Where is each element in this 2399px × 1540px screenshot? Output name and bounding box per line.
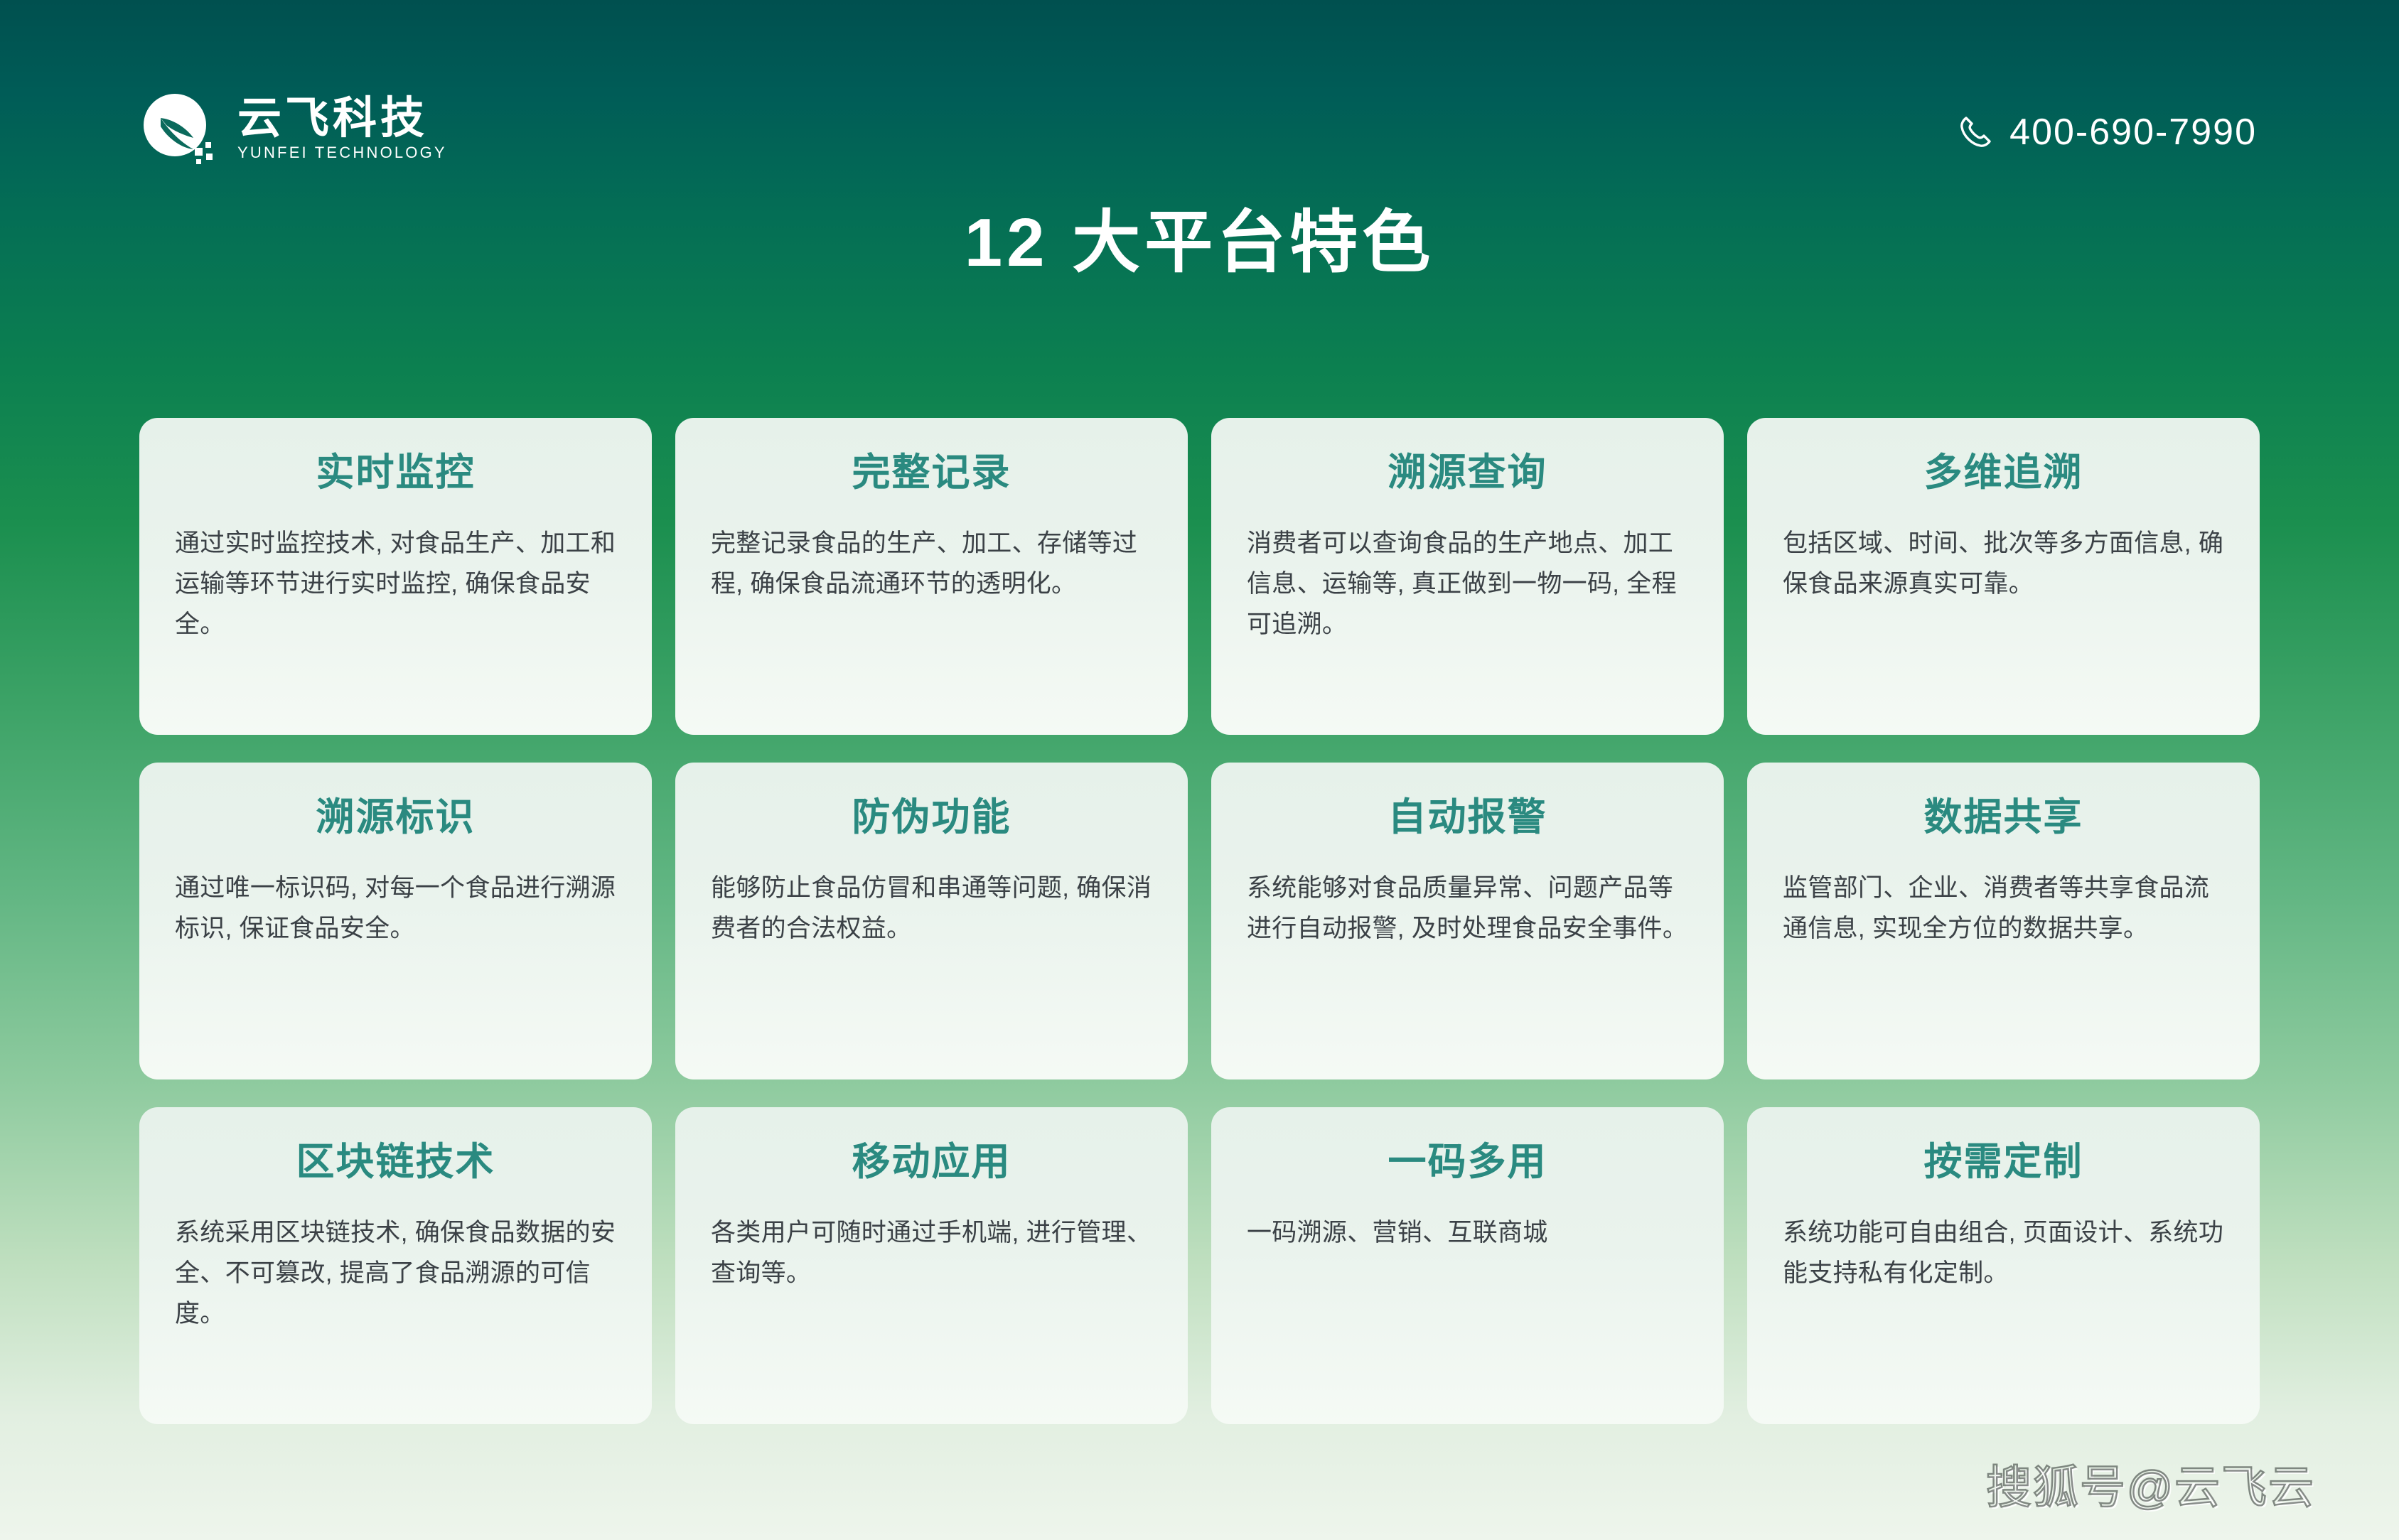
feature-card-description: 系统能够对食品质量异常、问题产品等进行自动报警, 及时处理食品安全事件。 [1247,868,1688,949]
feature-card-description: 能够防止食品仿冒和串通等问题, 确保消费者的合法权益。 [711,868,1152,949]
feature-card-description: 通过实时监控技术, 对食品生产、加工和运输等环节进行实时监控, 确保食品安全。 [175,524,616,645]
feature-card[interactable]: 多维追溯 包括区域、时间、批次等多方面信息, 确保食品来源真实可靠。 [1747,418,2260,735]
feature-card-description: 监管部门、企业、消费者等共享食品流通信息, 实现全方位的数据共享。 [1783,868,2224,949]
feature-card-title: 按需定制 [1924,1141,2083,1183]
leaf-circle-logo-icon [139,91,216,168]
contact-phone[interactable]: 400-690-7990 [1957,114,2257,151]
feature-card-grid: 实时监控 通过实时监控技术, 对食品生产、加工和运输等环节进行实时监控, 确保食… [139,418,2260,1424]
feature-card-title: 防伪功能 [852,797,1011,839]
feature-card-title: 移动应用 [852,1141,1011,1183]
feature-card[interactable]: 一码多用 一码溯源、营销、互联商城 [1211,1107,1724,1424]
feature-card-description: 包括区域、时间、批次等多方面信息, 确保食品来源真实可靠。 [1783,524,2224,604]
feature-card-title: 溯源标识 [316,797,476,839]
brand-text: 云飞科技 YUNFEI TECHNOLOGY [237,97,447,162]
feature-card[interactable]: 数据共享 监管部门、企业、消费者等共享食品流通信息, 实现全方位的数据共享。 [1747,763,2260,1079]
feature-card[interactable]: 溯源查询 消费者可以查询食品的生产地点、加工信息、运输等, 真正做到一物一码, … [1211,418,1724,735]
feature-card[interactable]: 实时监控 通过实时监控技术, 对食品生产、加工和运输等环节进行实时监控, 确保食… [139,418,652,735]
feature-card-title: 自动报警 [1388,797,1547,839]
brand-logo: 云飞科技 YUNFEI TECHNOLOGY [139,91,447,168]
feature-card-title: 完整记录 [852,452,1011,494]
feature-card[interactable]: 按需定制 系统功能可自由组合, 页面设计、系统功能支持私有化定制。 [1747,1107,2260,1424]
page-title: 12 大平台特色 [0,200,2399,286]
phone-number: 400-690-7990 [2009,114,2257,151]
feature-card-description: 各类用户可随时通过手机端, 进行管理、查询等。 [711,1213,1152,1293]
feature-card-description: 通过唯一标识码, 对每一个食品进行溯源标识, 保证食品安全。 [175,868,616,949]
feature-card-title: 区块链技术 [296,1141,495,1183]
feature-card[interactable]: 移动应用 各类用户可随时通过手机端, 进行管理、查询等。 [675,1107,1188,1424]
brand-name-en: YUNFEI TECHNOLOGY [237,145,447,161]
feature-card-title: 多维追溯 [1924,452,2083,494]
feature-card-title: 溯源查询 [1388,452,1547,494]
feature-card-description: 系统功能可自由组合, 页面设计、系统功能支持私有化定制。 [1783,1213,2224,1293]
feature-card-title: 一码多用 [1388,1141,1547,1183]
page-header: 云飞科技 YUNFEI TECHNOLOGY 400-690-7990 [0,0,2399,185]
poster-page: 云飞科技 YUNFEI TECHNOLOGY 400-690-7990 12 大… [0,0,2399,1540]
feature-card-title: 实时监控 [316,452,476,494]
watermark: 搜狐号@云飞云 [1986,1465,2315,1510]
brand-name-cn: 云飞科技 [237,97,447,141]
feature-card[interactable]: 区块链技术 系统采用区块链技术, 确保食品数据的安全、不可篡改, 提高了食品溯源… [139,1107,652,1424]
feature-card[interactable]: 溯源标识 通过唯一标识码, 对每一个食品进行溯源标识, 保证食品安全。 [139,763,652,1079]
feature-card-description: 系统采用区块链技术, 确保食品数据的安全、不可篡改, 提高了食品溯源的可信度。 [175,1213,616,1334]
feature-card-description: 消费者可以查询食品的生产地点、加工信息、运输等, 真正做到一物一码, 全程可追溯… [1247,524,1688,645]
feature-card-description: 一码溯源、营销、互联商城 [1247,1213,1688,1254]
feature-card-description: 完整记录食品的生产、加工、存储等过程, 确保食品流通环节的透明化。 [711,524,1152,604]
phone-icon [1957,114,1994,151]
feature-card[interactable]: 完整记录 完整记录食品的生产、加工、存储等过程, 确保食品流通环节的透明化。 [675,418,1188,735]
feature-card-title: 数据共享 [1924,797,2083,839]
feature-card[interactable]: 自动报警 系统能够对食品质量异常、问题产品等进行自动报警, 及时处理食品安全事件… [1211,763,1724,1079]
feature-card[interactable]: 防伪功能 能够防止食品仿冒和串通等问题, 确保消费者的合法权益。 [675,763,1188,1079]
